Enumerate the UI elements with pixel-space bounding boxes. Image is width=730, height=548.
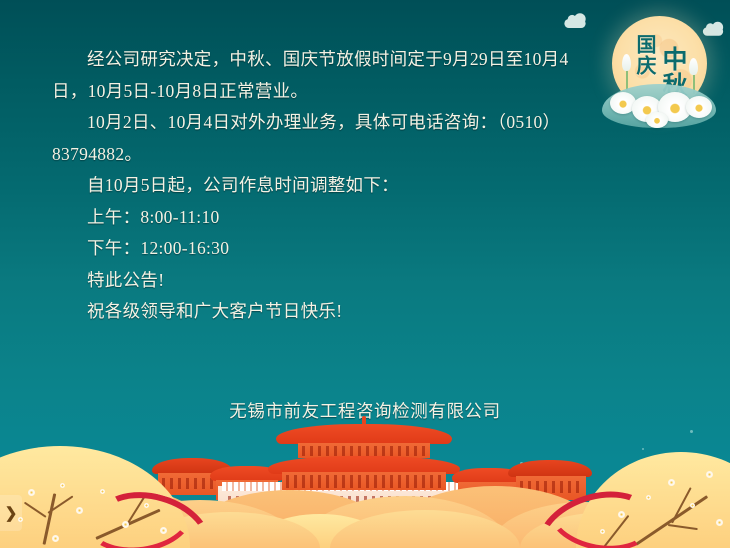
blossom-icon [60,483,65,488]
blossom-icon [716,519,723,526]
upper-windows [302,446,426,456]
blossom-icon [706,471,713,478]
lotus-bud [622,54,631,71]
blossom-icon [76,507,83,514]
notice-paragraph: 祝各级领导和广大客户节日快乐! [52,296,572,328]
chevron-right-icon: ❯ [5,504,18,522]
bottom-illustration [0,418,730,548]
blossom-icon [28,489,35,496]
badge-label-guoqing: 国庆 [634,34,654,76]
notice-paragraph: 上午：8:00-11:10 [52,202,572,234]
notice-paragraph: 10月2日、10月4日对外办理业务，具体可电话咨询：（0510）83794882… [52,107,572,170]
notice-paragraph: 经公司研究决定，中秋、国庆节放假时间定于9月29日至10月4日，10月5日-10… [52,44,572,107]
mid-autumn-national-day-badge: 国庆 中秋 [596,4,722,132]
palace-main-gate [268,418,460,490]
notice-paragraph: 特此公告! [52,265,572,297]
cloud-icon [703,27,723,36]
blossom-icon [668,479,675,486]
lotus-flower [686,96,712,118]
lotus-bud [689,58,698,75]
upper-roof [276,424,452,444]
prev-arrow-button[interactable]: ❯ [0,495,22,531]
blossom-icon [690,503,695,508]
lower-windows [286,475,442,488]
blossom-icon [646,495,651,500]
notice-paragraph: 自10月5日起，公司作息时间调整如下： [52,170,572,202]
notice-body: 经公司研究决定，中秋、国庆节放假时间定于9月29日至10月4日，10月5日-10… [52,44,572,328]
holiday-notice-poster: 国庆 中秋 经公司研究决定，中秋、国庆节放假时间定于9月29日至10月4日，10… [0,0,730,548]
blossom-icon [52,535,59,542]
lotus-flower [646,112,668,128]
cloud-icon [564,19,585,28]
palace-roof [508,460,592,477]
notice-paragraph: 下午：12:00-16:30 [52,233,572,265]
